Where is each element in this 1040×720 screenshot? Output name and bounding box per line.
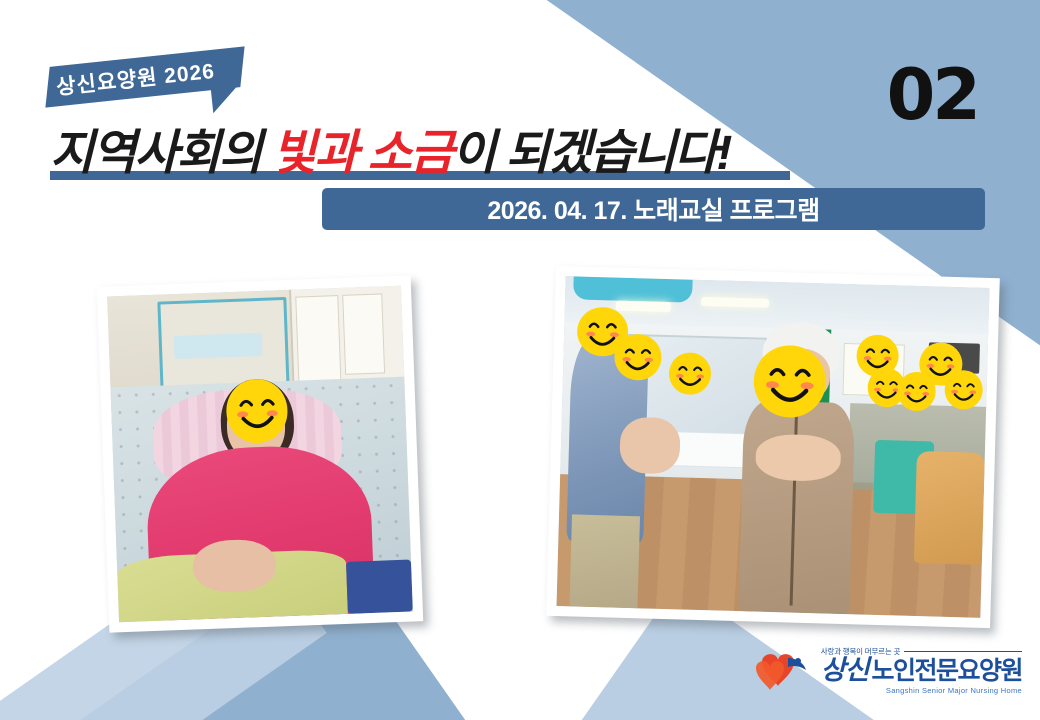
organization-logo: 사랑과 행복이 머무르는 곳 상신 노인전문요양원 Sangshin Senio…: [752, 640, 1022, 702]
page-title: 지역사회의 빛과 소금이 되겠습니다!: [50, 113, 730, 183]
tag-banner-pointer: [211, 87, 239, 114]
heart-swoosh-icon: [752, 648, 814, 694]
slide-canvas: 상신요양원 2026 지역사회의 빛과 소금이 되겠습니다! 02 2026. …: [0, 0, 1040, 720]
logo-tagline-rule: [904, 651, 1022, 652]
logo-name-main: 노인전문요양원: [871, 659, 1022, 684]
subtitle-bar: 2026. 04. 17. 노래교실 프로그램: [322, 188, 985, 230]
photo-right-image: [556, 276, 989, 618]
title-highlight: 빛과 소금: [272, 127, 452, 180]
title-part-1: 지역사회의: [50, 127, 272, 180]
photo-left[interactable]: [97, 275, 423, 632]
page-number: 02: [887, 60, 978, 130]
photo-left-image: [107, 286, 413, 623]
photo-right[interactable]: [546, 266, 1000, 628]
smiley-face-icon: [668, 352, 712, 396]
logo-name-english: Sangshin Senior Major Nursing Home: [821, 687, 1022, 695]
subtitle-label: 2026. 04. 17. 노래교실 프로그램: [487, 191, 819, 227]
smiley-face-icon: [614, 334, 662, 381]
smiley-face-icon: [944, 369, 983, 410]
title-part-2: 이 되겠습니다!: [452, 127, 730, 180]
logo-name-sangshin: 상신: [821, 657, 869, 684]
smiley-face-icon: [753, 344, 827, 419]
logo-tagline: 사랑과 행복이 머무르는 곳: [821, 648, 900, 656]
smiley-face-icon: [225, 378, 289, 444]
